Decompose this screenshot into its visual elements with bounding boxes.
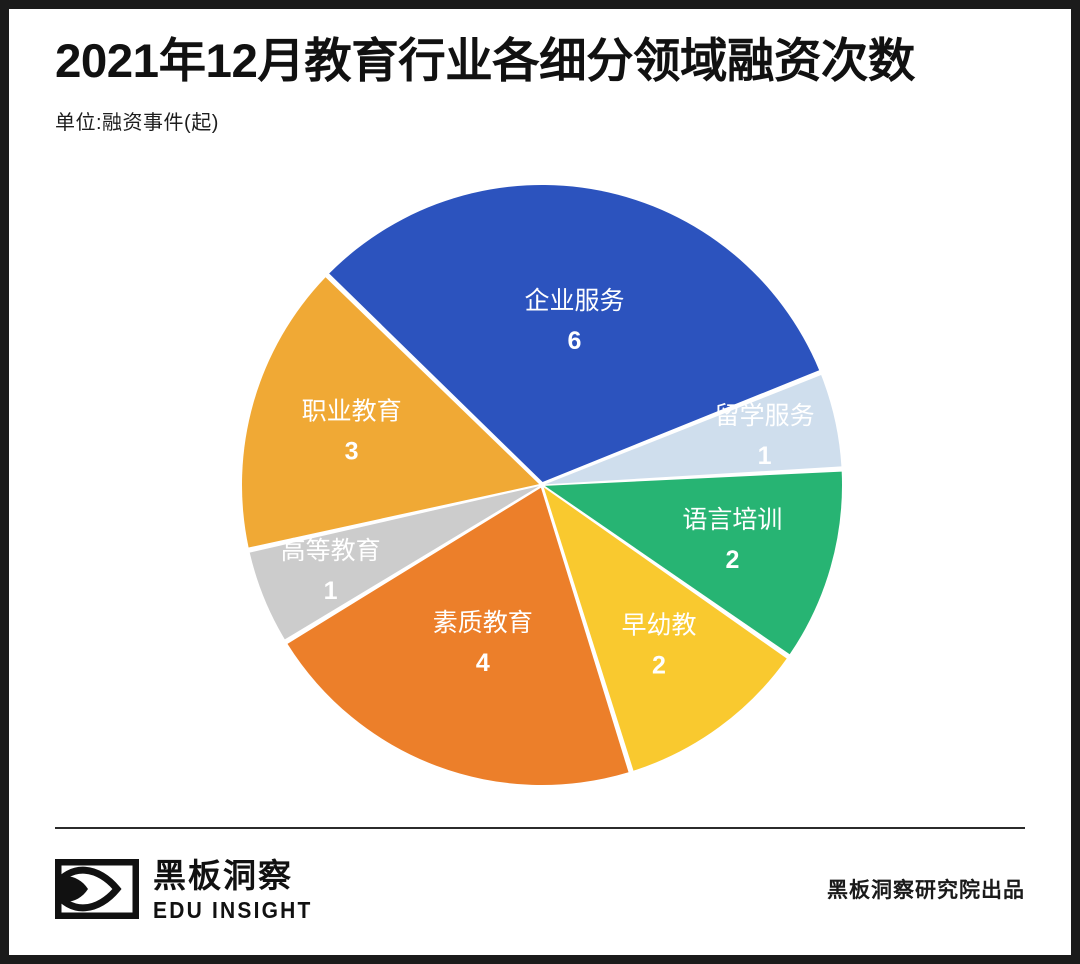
brand-name-en: EDU INSIGHT (153, 899, 313, 923)
pie-slice-value: 6 (568, 327, 582, 355)
eye-in-frame-logo-icon (55, 859, 139, 919)
infographic-page: 2021年12月教育行业各细分领域融资次数 单位:融资事件(起) 留学服务1语言… (0, 0, 1080, 964)
brand-logo: 黑板洞察 EDU INSIGHT (55, 859, 313, 920)
pie-slice-label: 语言培训 (682, 506, 782, 534)
pie-slice-value: 1 (324, 577, 338, 605)
header: 2021年12月教育行业各细分领域融资次数 单位:融资事件(起) (55, 35, 1031, 135)
brand-name-cn: 黑板洞察 (153, 859, 313, 892)
pie-slice-value: 2 (652, 651, 666, 679)
footer: 黑板洞察 EDU INSIGHT 黑板洞察研究院出品 (55, 849, 1025, 929)
page-inner: 2021年12月教育行业各细分领域融资次数 单位:融资事件(起) 留学服务1语言… (9, 9, 1071, 955)
pie-slice-label: 素质教育 (433, 609, 533, 637)
unit-label: 单位:融资事件(起) (55, 106, 1031, 135)
pie-slice-value: 1 (758, 442, 772, 470)
pie-slice-value: 2 (725, 546, 739, 574)
brand-text: 黑板洞察 EDU INSIGHT (153, 859, 313, 920)
footer-divider (55, 827, 1025, 829)
page-title: 2021年12月教育行业各细分领域融资次数 (55, 35, 1041, 88)
pie-slice-value: 3 (345, 437, 359, 465)
pie-slice-label: 企业服务 (524, 287, 624, 315)
credit-label: 黑板洞察研究院出品 (827, 874, 1025, 904)
pie-slice-value: 4 (476, 649, 490, 677)
pie-chart: 留学服务1语言培训2早幼教2素质教育4高等教育1职业教育3企业服务6 (236, 179, 848, 791)
pie-slice-label: 早幼教 (621, 611, 696, 639)
chart-area: 留学服务1语言培训2早幼教2素质教育4高等教育1职业教育3企业服务6 (9, 161, 1071, 821)
pie-slice-label: 职业教育 (302, 397, 402, 425)
pie-slice-label: 留学服务 (715, 402, 815, 430)
pie-slice-label: 高等教育 (281, 537, 381, 565)
pie-slice-group (242, 185, 842, 785)
